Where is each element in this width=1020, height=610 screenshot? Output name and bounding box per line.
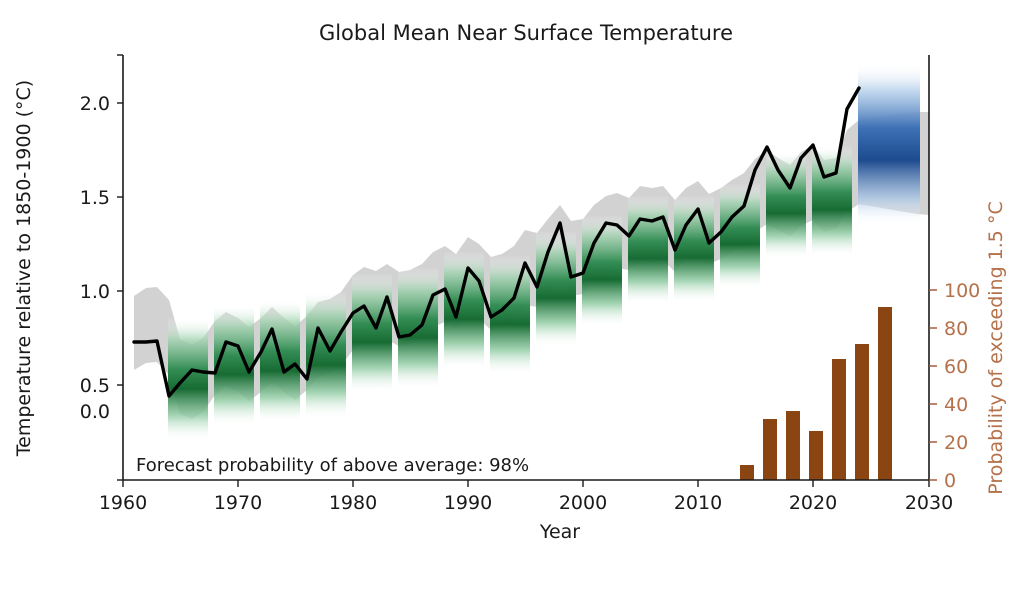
y-tick-label-right: 20 [944,432,968,454]
x-tick-label: 2020 [789,492,837,514]
probability-bar [740,465,754,480]
probability-bar [809,431,823,480]
y-tick-label: 1.0 [80,281,110,303]
x-axis-ticks [123,480,929,487]
x-tick-label: 1970 [214,492,262,514]
y-tick-label-right: 80 [944,318,968,340]
y-tick-label-right: 40 [944,394,968,416]
x-tick-label: 1960 [99,492,147,514]
page-title: Global Mean Near Surface Temperature [319,21,733,45]
y-axis-ticks-left [117,55,123,480]
y-tick-label: 0.5 [80,375,110,397]
figure-container: 2.0 1.5 1.0 0.5 0.0 1960 1970 1980 1990 … [0,0,1020,610]
x-axis-tick-labels: 1960 1970 1980 1990 2000 2010 2020 2030 [99,492,953,514]
y-tick-label: 1.5 [80,187,110,209]
y-tick-label-right: 60 [944,356,968,378]
chart-canvas: 2.0 1.5 1.0 0.5 0.0 1960 1970 1980 1990 … [0,0,1020,610]
x-axis-title: Year [539,521,580,543]
probability-bar [878,307,892,480]
y-tick-label: 2.0 [80,93,110,115]
probability-bar [786,411,800,480]
x-tick-label: 1980 [329,492,377,514]
probability-bar [832,359,846,480]
x-tick-label: 1990 [444,492,492,514]
y-axis-title-left: Temperature relative to 1850-1900 (°C) [13,80,35,457]
y-tick-label-zero: 0.0 [80,401,110,423]
y-tick-label-right: 100 [944,280,980,302]
x-tick-label: 2000 [559,492,607,514]
y-tick-label-right: 0 [944,470,956,492]
x-tick-label: 2030 [905,492,953,514]
y-axis-tick-labels-right: 0 20 40 60 80 100 [944,280,980,492]
x-tick-label: 2010 [674,492,722,514]
y-axis-ticks-right [929,290,937,480]
probability-bar [763,419,777,480]
probability-bar [855,344,869,480]
y-axis-tick-labels-left: 2.0 1.5 1.0 0.5 [80,93,110,397]
forecast-ensemble-band [858,64,920,224]
y-axis-title-right: Probability of exceeding 1.5 °C [985,201,1007,494]
forecast-probability-annotation: Forecast probability of above average: 9… [136,455,529,476]
